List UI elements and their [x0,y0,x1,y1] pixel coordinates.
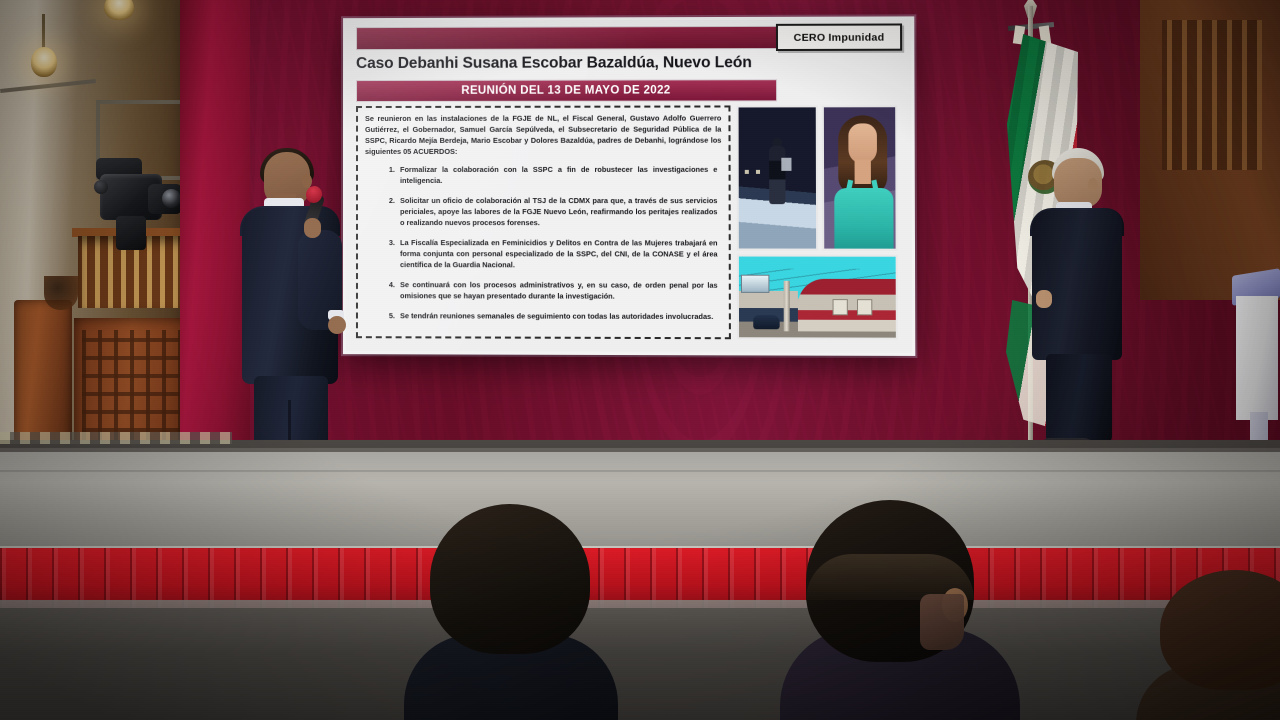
motel-column [784,281,790,331]
portrait-neck [855,160,871,184]
wood-corbel [44,276,78,310]
floor-edge-strip [0,432,232,444]
list-item: Se tendrán reuniones semanales de seguim… [397,311,718,323]
road-lights [745,170,767,174]
figure-body [769,146,785,204]
wall-sconce-lamp-icon [31,47,57,77]
cero-impunidad-badge: CERO Impunidad [776,23,902,51]
camera-grip [116,216,146,250]
list-item: Se continuará con los procesos administr… [397,280,718,303]
list-item: La Fiscalía Especializada en Feminicidio… [397,238,718,271]
list-item: Solicitar un oficio de colaboración al T… [397,196,717,229]
audience-member-center [790,500,1000,720]
audience-head [430,504,590,654]
slide-title: Caso Debanhi Susana Escobar Bazaldúa, Nu… [356,50,901,77]
president-ear [1088,178,1098,191]
president-suit-jacket [1032,210,1122,360]
railing-segment [1162,20,1262,170]
motel-window [833,299,848,315]
slide-photo-group [737,105,898,339]
president-trousers [1046,354,1112,442]
motel-window [857,299,872,315]
slide-subtitle-text: REUNIÓN DEL 13 DE MAYO DE 2022 [461,84,670,96]
motel-building [798,279,898,332]
audience-face-mask [920,594,964,650]
lower-floor [0,608,1280,720]
projection-screen[interactable]: CERO Impunidad Caso Debanhi Susana Escob… [343,16,915,356]
cctv-night-photo [737,105,819,250]
parked-car [753,315,779,329]
stage-carpet [0,452,1280,560]
acuerdos-list: Formalizar la colaboración con la SSPC a… [365,165,722,323]
carpet-seam [0,470,1280,472]
slide-subtitle-bar: REUNIÓN DEL 13 DE MAYO DE 2022 [356,79,777,102]
hall-architecture-right [1140,0,1280,300]
president-by-flag [1032,148,1126,458]
camera-lens-icon [148,184,182,214]
slide-title-text: Caso Debanhi Susana Escobar Bazaldúa, Nu… [356,54,752,73]
slide-intro-paragraph: Se reunieron en las instalaciones de la … [365,113,721,158]
sconce-stem [42,14,45,48]
broadcast-camera [92,152,184,248]
podium-panel [1236,296,1278,420]
audience-member-left [420,520,600,720]
slide-text-block: Se reunieron en las instalaciones de la … [356,105,731,339]
list-item: Formalizar la colaboración con la SSPC a… [397,165,717,187]
portrait-face [848,123,877,163]
slide-top-accent-bar [356,26,777,50]
president-hand [1036,290,1052,308]
portrait-top [834,188,893,251]
hall-architecture-left [0,0,250,470]
presenter-hand-holding-mic [304,218,321,238]
motel-sign [741,275,769,293]
badge-label: CERO Impunidad [794,31,885,43]
camera-knob [94,180,108,194]
briefing-room-scene: CERO Impunidad Caso Debanhi Susana Escob… [0,0,1280,720]
presenter-hand [328,316,346,334]
motel-exterior-photo [737,255,898,340]
figure-bag [781,158,791,171]
audience-member-right [1150,590,1280,720]
portrait-photo [822,105,898,250]
